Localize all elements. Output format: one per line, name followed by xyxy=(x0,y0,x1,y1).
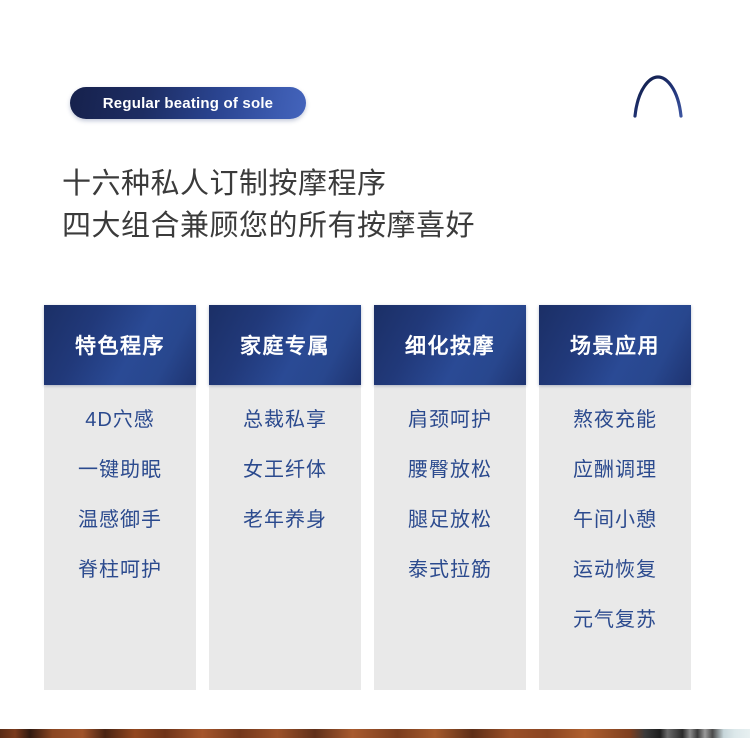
list-item[interactable]: 4D穴感 xyxy=(85,408,155,432)
list-item[interactable]: 应酬调理 xyxy=(573,458,657,482)
headline-line-2: 四大组合兼顾您的所有按摩喜好 xyxy=(62,205,662,247)
list-item[interactable]: 午间小憩 xyxy=(573,508,657,532)
brand-logo-icon xyxy=(628,72,688,126)
list-item[interactable]: 一键助眠 xyxy=(78,458,162,482)
program-card-1: 特色程序 4D穴感 一键助眠 温感御手 脊柱呵护 xyxy=(44,305,196,690)
card-title-3: 细化按摩 xyxy=(405,330,495,360)
card-header-3: 细化按摩 xyxy=(374,305,526,385)
program-card-3: 细化按摩 肩颈呵护 腰臀放松 腿足放松 泰式拉筋 xyxy=(374,305,526,690)
list-item[interactable]: 腰臀放松 xyxy=(408,458,492,482)
card-title-2: 家庭专属 xyxy=(240,330,330,360)
list-item[interactable]: 元气复苏 xyxy=(573,608,657,632)
headline-line-1: 十六种私人订制按摩程序 xyxy=(62,163,662,205)
list-item[interactable]: 脊柱呵护 xyxy=(78,558,162,582)
list-item[interactable]: 总裁私享 xyxy=(243,408,327,432)
list-item[interactable]: 泰式拉筋 xyxy=(408,558,492,582)
wooden-floor-strip xyxy=(0,729,750,738)
card-title-4: 场景应用 xyxy=(570,330,660,360)
program-card-4: 场景应用 熬夜充能 应酬调理 午间小憩 运动恢复 元气复苏 xyxy=(539,305,691,690)
program-cards-grid: 特色程序 4D穴感 一键助眠 温感御手 脊柱呵护 家庭专属 总裁私享 女王纤体 … xyxy=(44,305,708,690)
list-item[interactable]: 腿足放松 xyxy=(408,508,492,532)
card-header-1: 特色程序 xyxy=(44,305,196,385)
program-card-2: 家庭专属 总裁私享 女王纤体 老年养身 xyxy=(209,305,361,690)
card-header-4: 场景应用 xyxy=(539,305,691,385)
card-header-2: 家庭专属 xyxy=(209,305,361,385)
card-body-4: 熬夜充能 应酬调理 午间小憩 运动恢复 元气复苏 xyxy=(539,385,691,690)
card-title-1: 特色程序 xyxy=(75,330,165,360)
list-item[interactable]: 温感御手 xyxy=(78,508,162,532)
list-item[interactable]: 女王纤体 xyxy=(243,458,327,482)
list-item[interactable]: 运动恢复 xyxy=(573,558,657,582)
list-item[interactable]: 肩颈呵护 xyxy=(408,408,492,432)
list-item[interactable]: 老年养身 xyxy=(243,508,327,532)
card-body-1: 4D穴感 一键助眠 温感御手 脊柱呵护 xyxy=(44,385,196,690)
card-body-3: 肩颈呵护 腰臀放松 腿足放松 泰式拉筋 xyxy=(374,385,526,690)
headline-block: 十六种私人订制按摩程序 四大组合兼顾您的所有按摩喜好 xyxy=(62,163,662,247)
card-body-2: 总裁私享 女王纤体 老年养身 xyxy=(209,385,361,690)
list-item[interactable]: 熬夜充能 xyxy=(573,408,657,432)
badge-pill: Regular beating of sole xyxy=(70,87,306,119)
badge-label: Regular beating of sole xyxy=(103,95,273,112)
